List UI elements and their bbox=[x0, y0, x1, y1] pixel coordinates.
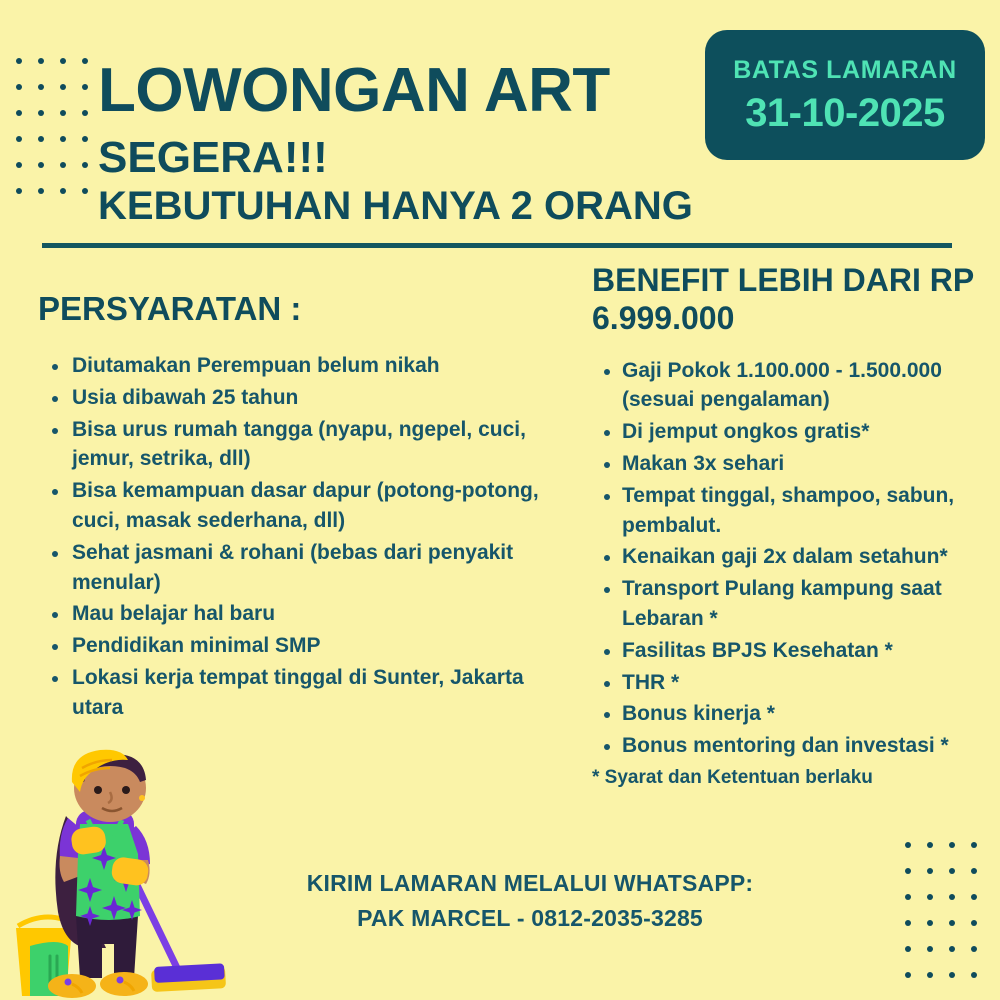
dot bbox=[60, 58, 66, 64]
benefits-heading: BENEFIT LEBIH DARI RP 6.999.000 bbox=[592, 262, 1000, 338]
shoe-left bbox=[48, 974, 96, 998]
list-item: Bonus kinerja * bbox=[592, 699, 1000, 729]
dot bbox=[82, 162, 88, 168]
dot bbox=[905, 894, 911, 900]
cleaning-woman-illustration bbox=[10, 748, 250, 1000]
dot bbox=[971, 946, 977, 952]
benefits-section: BENEFIT LEBIH DARI RP 6.999.000 Gaji Pok… bbox=[592, 262, 1000, 791]
dot bbox=[38, 188, 44, 194]
shoe-right bbox=[100, 972, 148, 996]
list-item: Tempat tinggal, shampoo, sabun, pembalut… bbox=[592, 481, 1000, 541]
dot bbox=[971, 920, 977, 926]
dot bbox=[16, 188, 22, 194]
earring bbox=[139, 795, 145, 801]
list-item: Usia dibawah 25 tahun bbox=[38, 383, 578, 413]
list-item: Mau belajar hal baru bbox=[38, 599, 578, 629]
dot bbox=[927, 894, 933, 900]
dot bbox=[82, 84, 88, 90]
dot bbox=[38, 58, 44, 64]
requirements-section: PERSYARATAN : Diutamakan Perempuan belum… bbox=[38, 290, 578, 725]
list-item: Diutamakan Perempuan belum nikah bbox=[38, 351, 578, 381]
contact-footer: KIRIM LAMARAN MELALUI WHATSAPP: PAK MARC… bbox=[250, 866, 810, 935]
requirements-list: Diutamakan Perempuan belum nikah Usia di… bbox=[38, 351, 578, 723]
benefits-list: Gaji Pokok 1.100.000 - 1.500.000 (sesuai… bbox=[592, 356, 1000, 762]
dot bbox=[38, 162, 44, 168]
eye-right bbox=[122, 786, 130, 794]
dot bbox=[82, 136, 88, 142]
list-item: Fasilitas BPJS Kesehatan * bbox=[592, 636, 1000, 666]
dot bbox=[16, 110, 22, 116]
deadline-label: BATAS LAMARAN bbox=[733, 58, 957, 83]
dot bbox=[905, 946, 911, 952]
list-item: Lokasi kerja tempat tinggal di Sunter, J… bbox=[38, 663, 578, 723]
list-item: Gaji Pokok 1.100.000 - 1.500.000 (sesuai… bbox=[592, 356, 1000, 416]
list-item: Makan 3x sehari bbox=[592, 449, 1000, 479]
eye-left bbox=[94, 786, 102, 794]
list-item: THR * bbox=[592, 668, 1000, 698]
dot bbox=[905, 868, 911, 874]
dot bbox=[905, 842, 911, 848]
dot bbox=[949, 842, 955, 848]
list-item: Pendidikan minimal SMP bbox=[38, 631, 578, 661]
dot bbox=[927, 868, 933, 874]
list-item: Sehat jasmani & rohani (bebas dari penya… bbox=[38, 538, 578, 598]
dot bbox=[60, 136, 66, 142]
dot bbox=[60, 188, 66, 194]
list-item: Bisa urus rumah tangga (nyapu, ngepel, c… bbox=[38, 415, 578, 475]
dot bbox=[82, 188, 88, 194]
dot bbox=[82, 110, 88, 116]
page-title: LOWONGAN ART bbox=[98, 60, 610, 122]
dot bbox=[38, 84, 44, 90]
dot bbox=[927, 972, 933, 978]
subtitle-headcount: KEBUTUHAN HANYA 2 ORANG bbox=[98, 186, 693, 226]
dot bbox=[60, 110, 66, 116]
dot bbox=[38, 136, 44, 142]
dot bbox=[949, 868, 955, 874]
contact-instruction: KIRIM LAMARAN MELALUI WHATSAPP: bbox=[250, 866, 810, 901]
dot bbox=[927, 920, 933, 926]
dot bbox=[60, 162, 66, 168]
dot bbox=[60, 84, 66, 90]
dot bbox=[971, 868, 977, 874]
subtitle-urgent: SEGERA!!! bbox=[98, 136, 328, 180]
dot bbox=[949, 946, 955, 952]
dot bbox=[927, 842, 933, 848]
dot bbox=[949, 894, 955, 900]
section-divider bbox=[42, 243, 952, 248]
dot bbox=[16, 162, 22, 168]
list-item: Transport Pulang kampung saat Lebaran * bbox=[592, 574, 1000, 634]
terms-footnote: * Syarat dan Ketentuan berlaku bbox=[592, 765, 1000, 791]
deadline-badge: BATAS LAMARAN 31-10-2025 bbox=[705, 30, 985, 160]
decorative-dot-grid-bottomright bbox=[905, 842, 993, 998]
deadline-date: 31-10-2025 bbox=[745, 93, 945, 133]
dot bbox=[16, 84, 22, 90]
list-item: Di jemput ongkos gratis* bbox=[592, 417, 1000, 447]
dot bbox=[927, 946, 933, 952]
dot bbox=[905, 972, 911, 978]
decorative-dot-grid-topleft bbox=[16, 58, 104, 214]
dot bbox=[38, 110, 44, 116]
dot bbox=[16, 58, 22, 64]
dot bbox=[16, 136, 22, 142]
dot bbox=[905, 920, 911, 926]
contact-phone: PAK MARCEL - 0812-2035-3285 bbox=[250, 901, 810, 936]
dot bbox=[971, 894, 977, 900]
job-vacancy-poster: LOWONGAN ART SEGERA!!! KEBUTUHAN HANYA 2… bbox=[0, 0, 1000, 1000]
dot bbox=[971, 972, 977, 978]
list-item: Bisa kemampuan dasar dapur (potong-poton… bbox=[38, 476, 578, 536]
dot bbox=[82, 58, 88, 64]
requirements-heading: PERSYARATAN : bbox=[38, 290, 578, 329]
dot bbox=[949, 972, 955, 978]
dot bbox=[971, 842, 977, 848]
dot bbox=[949, 920, 955, 926]
list-item: Bonus mentoring dan investasi * bbox=[592, 731, 1000, 761]
list-item: Kenaikan gaji 2x dalam setahun* bbox=[592, 542, 1000, 572]
